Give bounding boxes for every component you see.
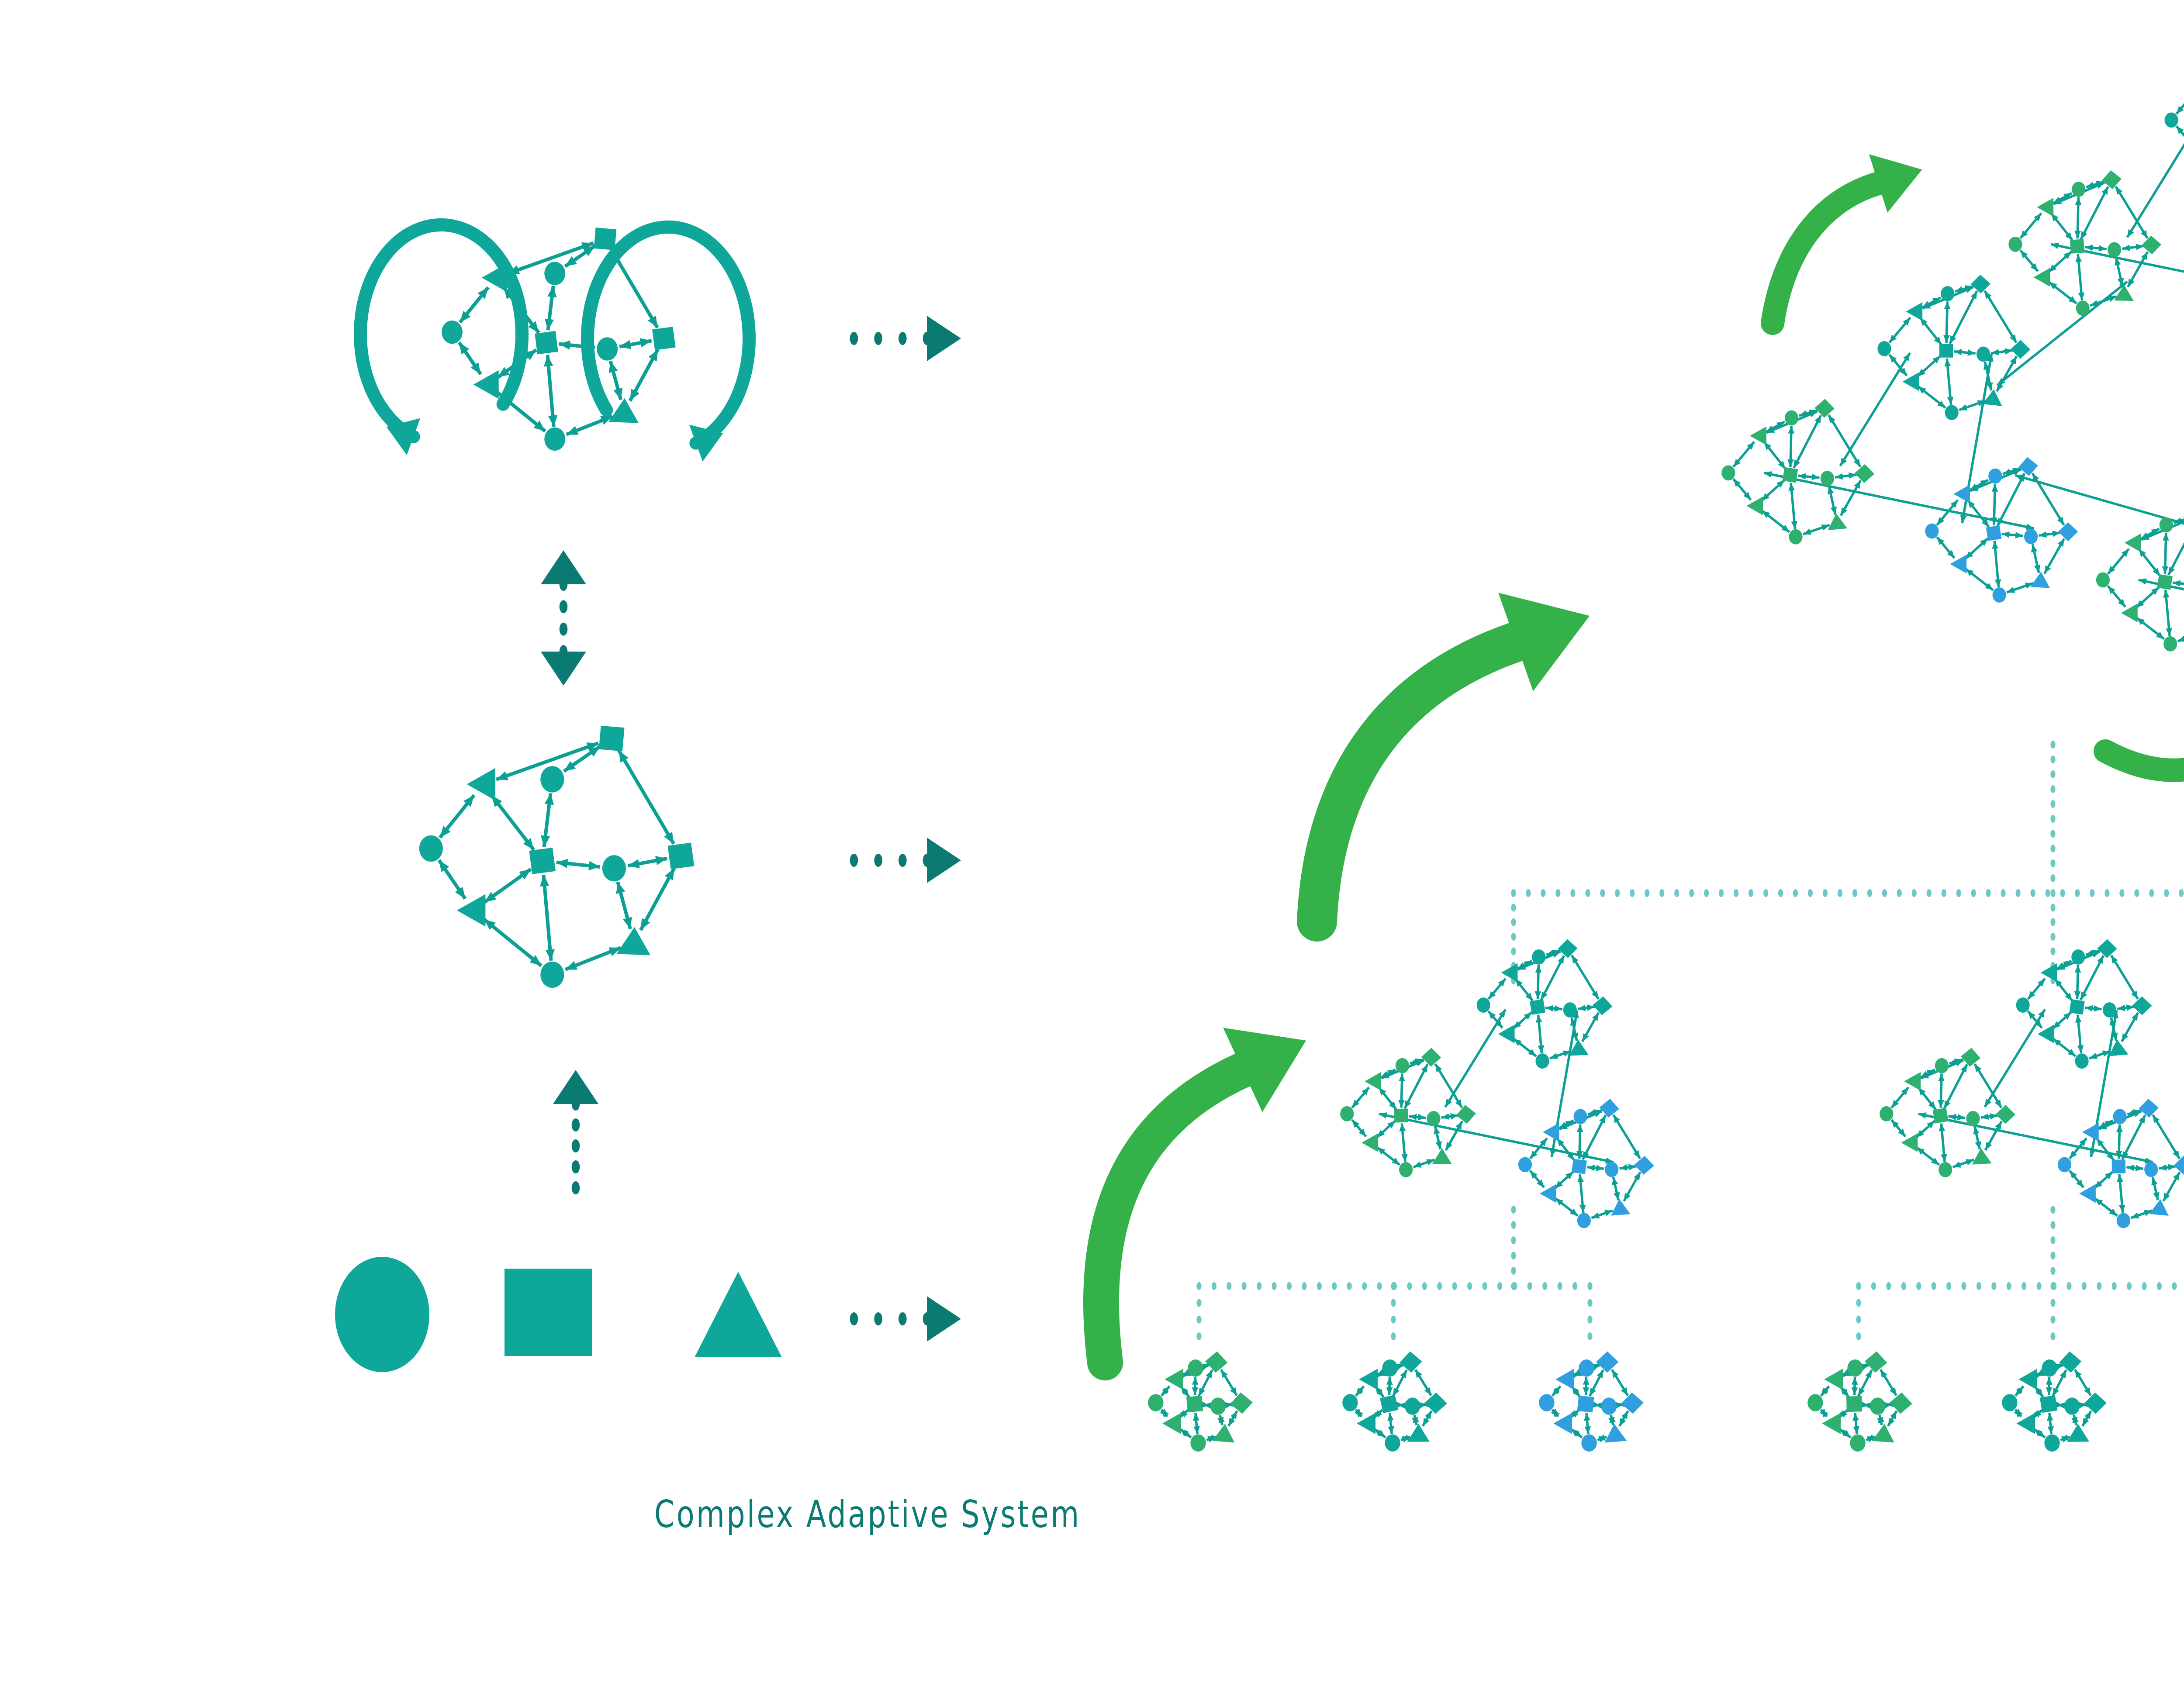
dotted-shaft [560,578,568,658]
dotted-arrowhead [553,1070,598,1104]
dotted-shaft [572,1097,580,1194]
dot [560,600,568,613]
dot [874,332,882,345]
dotted-arrowhead [541,652,586,686]
dot [572,1139,580,1152]
dot [850,332,858,345]
dotted-arrowhead [927,316,961,361]
left-column-arrow-layer [0,0,2184,1687]
out-arrow-nonlinear-feedbacks [850,316,961,361]
dot [850,854,858,867]
dot [850,1312,858,1325]
dot [874,854,882,867]
dotted-arrowhead [927,838,961,883]
dotted-shaft [850,854,931,867]
dot [572,1160,580,1173]
vertical-arrow-feedbacks-to-selforg [541,550,586,686]
dotted-arrowhead [927,1296,961,1342]
vertical-arrow-diversity-to-selforg [553,1070,598,1194]
diagram-canvas: Nonlinear feedbacksSelf-organizationFunc… [0,0,2184,1687]
dot [898,332,907,345]
out-arrow-functional-diversity [850,1296,961,1342]
dotted-shaft [850,332,931,345]
dot [572,1181,580,1194]
dot [898,1312,907,1325]
out-arrow-self-organization [850,838,961,883]
dotted-shaft [850,1312,931,1325]
dot [898,854,907,867]
dot [560,623,568,636]
dotted-arrowhead [541,550,586,584]
dot [572,1118,580,1132]
dot [874,1312,882,1325]
